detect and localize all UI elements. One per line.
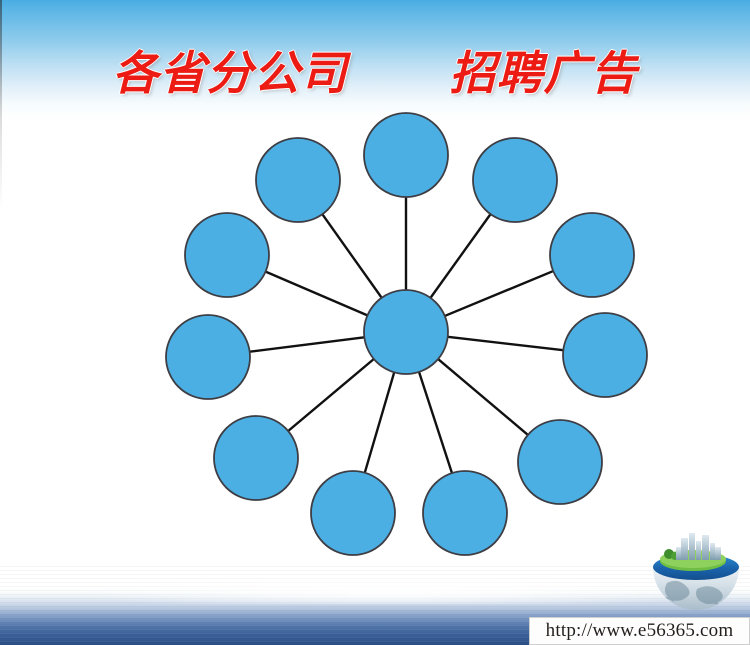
branch-node-2[interactable] xyxy=(473,138,557,222)
branch-node-7[interactable] xyxy=(311,471,395,555)
slide-canvas: 各省分公司 招聘广告 xyxy=(0,0,750,645)
branch-node-9[interactable] xyxy=(166,315,250,399)
branch-node-8[interactable] xyxy=(214,416,298,500)
branch-node-5[interactable] xyxy=(518,420,602,504)
branch-node-6[interactable] xyxy=(423,471,507,555)
spoke-line-5 xyxy=(438,359,528,435)
spoke-line-9 xyxy=(250,337,365,351)
spoke-line-3 xyxy=(445,271,553,316)
branch-node-4[interactable] xyxy=(563,313,647,397)
branch-node-1[interactable] xyxy=(364,113,448,197)
spoke-line-11 xyxy=(322,214,381,298)
branch-node-10[interactable] xyxy=(185,213,269,297)
branch-node-11[interactable] xyxy=(256,138,340,222)
spoke-line-8 xyxy=(288,359,374,431)
hub-and-spoke-diagram xyxy=(0,0,750,645)
branch-node-3[interactable] xyxy=(550,213,634,297)
watermark-url-text: http://www.e56365.com xyxy=(546,620,734,642)
hub-node[interactable] xyxy=(364,290,448,374)
node-circle-group xyxy=(166,113,647,555)
globe-city-logo xyxy=(645,531,747,615)
watermark-url: http://www.e56365.com xyxy=(529,617,750,645)
spoke-line-10 xyxy=(266,272,368,316)
spoke-line-7 xyxy=(365,372,394,472)
spoke-line-6 xyxy=(419,372,452,473)
city-buildings xyxy=(676,533,721,560)
spoke-line-4 xyxy=(448,337,564,350)
spoke-line-2 xyxy=(430,214,490,298)
